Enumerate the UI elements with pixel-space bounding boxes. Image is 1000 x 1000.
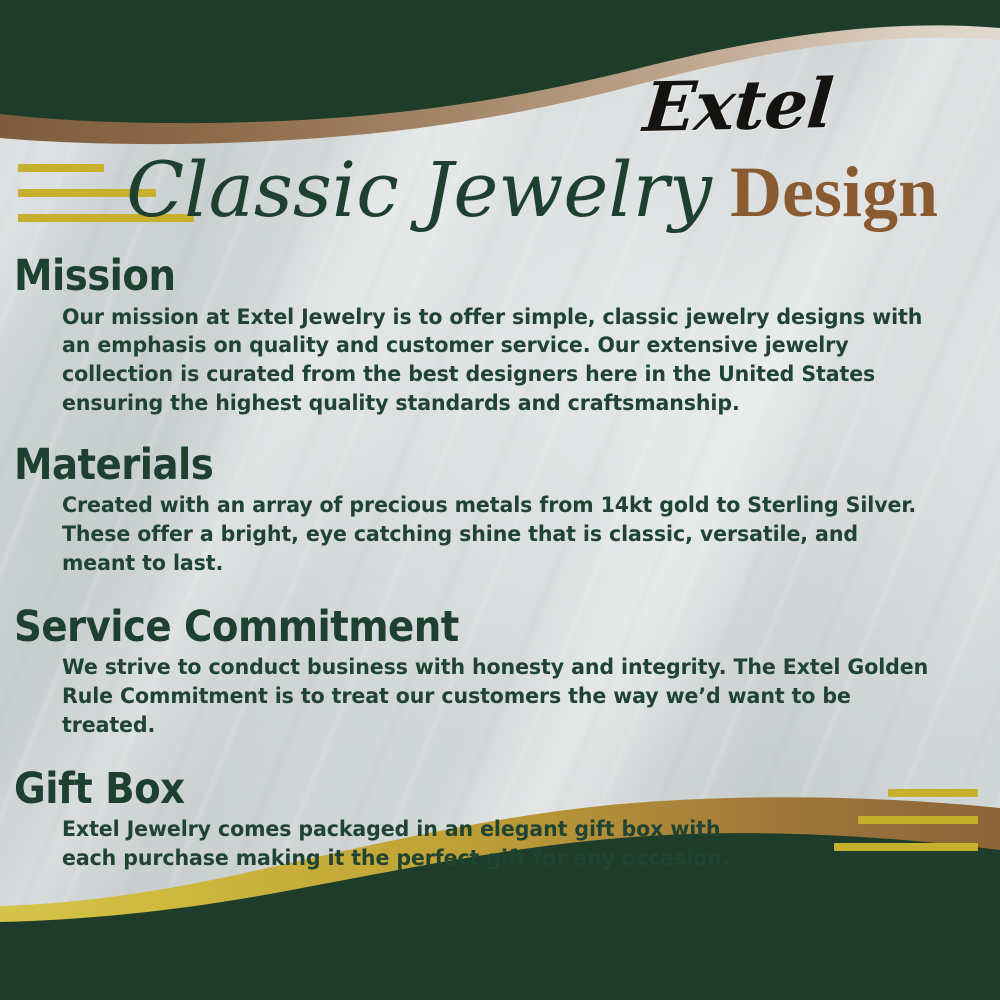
title-script-part: Classic Jewelry xyxy=(126,152,712,228)
brand-logo: Extel xyxy=(641,70,835,142)
section-body-mission: Our mission at Extel Jewelry is to offer… xyxy=(62,304,933,419)
section-service-commitment: Service Commitment We strive to conduct … xyxy=(0,605,1000,741)
poster-canvas: Extel Classic Jewelry Design Mission Our… xyxy=(0,0,1000,1000)
section-mission: Mission Our mission at Extel Jewelry is … xyxy=(0,254,1000,419)
section-body-gift-box: Extel Jewelry comes packaged in an elega… xyxy=(62,816,731,874)
section-body-service-commitment: We strive to conduct business with hones… xyxy=(62,654,933,740)
section-body-materials: Created with an array of precious metals… xyxy=(62,492,933,578)
section-gift-box: Gift Box Extel Jewelry comes packaged in… xyxy=(0,767,1000,874)
content-sections: Mission Our mission at Extel Jewelry is … xyxy=(0,254,1000,890)
section-heading-mission: Mission xyxy=(14,254,901,300)
page-title: Classic Jewelry Design xyxy=(0,152,1000,252)
section-materials: Materials Created with an array of preci… xyxy=(0,443,1000,579)
section-heading-gift-box: Gift Box xyxy=(14,767,901,813)
section-heading-materials: Materials xyxy=(14,443,901,489)
title-serif-part: Design xyxy=(730,156,938,228)
section-heading-service-commitment: Service Commitment xyxy=(14,605,901,651)
